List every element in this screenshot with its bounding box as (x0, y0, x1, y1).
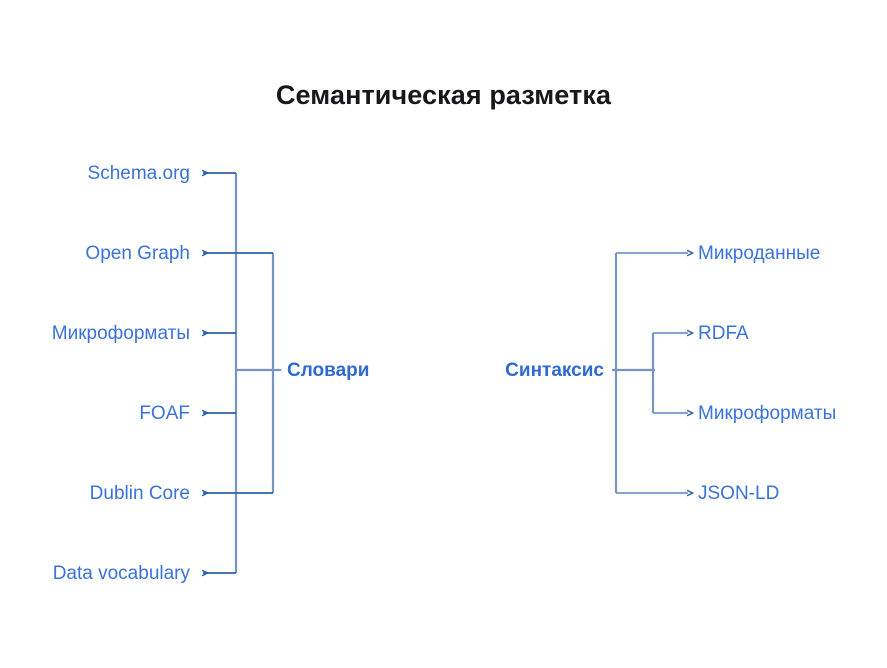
leaf-label-microdata: Микроданные (698, 244, 820, 263)
vocabularies-bracket-inner (203, 253, 273, 493)
leaf-label-schema-org: Schema.org (88, 164, 190, 183)
leaf-label-open-graph: Open Graph (85, 244, 190, 263)
leaf-label-rdfa: RDFA (698, 324, 749, 343)
leaf-label-microformats-syntax: Микроформаты (698, 404, 836, 423)
leaf-label-data-vocabulary: Data vocabulary (53, 564, 190, 583)
syntax-bracket-inner (653, 333, 688, 413)
group-label-vocabularies: Словари (287, 361, 369, 380)
leaf-label-json-ld: JSON-LD (698, 484, 779, 503)
diagram-canvas: Семантическая разметка (0, 0, 887, 668)
leaf-label-foaf: FOAF (139, 404, 190, 423)
group-label-syntax: Синтаксис (505, 361, 604, 380)
leaf-label-microformats: Микроформаты (52, 324, 190, 343)
leaf-label-dublin-core: Dublin Core (90, 484, 190, 503)
vocabularies-bracket-outer (203, 173, 236, 573)
